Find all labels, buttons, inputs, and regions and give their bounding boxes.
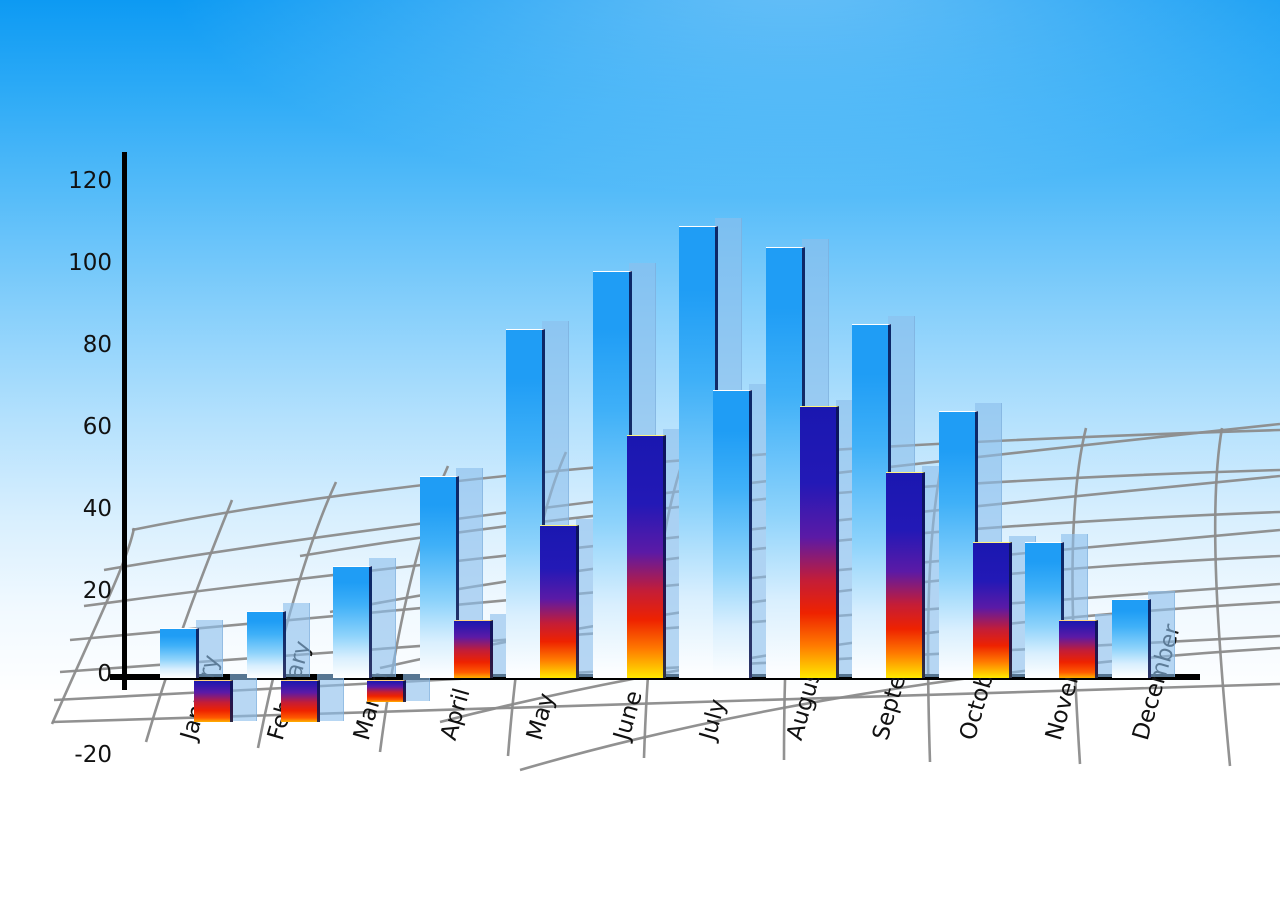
- bar-front-face: [194, 680, 233, 722]
- bar-august-series1[interactable]: [766, 247, 802, 678]
- bar-february-series2[interactable]: [281, 680, 317, 721]
- bar-front-face: [540, 525, 579, 678]
- bar-november-series1[interactable]: [1025, 542, 1061, 677]
- bar-january-series1[interactable]: [160, 628, 196, 677]
- bar-front-face: [247, 611, 286, 678]
- bar-depth-panel: [1148, 591, 1175, 677]
- bar-front-face: [800, 406, 839, 678]
- bar-front-face: [627, 435, 666, 678]
- bar-may-series2[interactable]: [540, 525, 576, 677]
- bar-july-series2[interactable]: [713, 390, 749, 677]
- bar-september-series2[interactable]: [886, 472, 922, 677]
- bar-april-series2[interactable]: [454, 620, 490, 677]
- x-axis-label-june: June: [609, 688, 648, 743]
- bar-front-face: [281, 680, 320, 722]
- plot-area: JanuaryFebruaryMarchAprilMayJuneJulyAugu…: [0, 0, 1280, 905]
- bar-november-series2[interactable]: [1059, 620, 1095, 677]
- bar-depth-panel: [369, 558, 396, 677]
- bar-depth-panel: [317, 674, 344, 721]
- bar-september-series1[interactable]: [852, 324, 888, 677]
- bar-october-series2[interactable]: [973, 542, 1009, 677]
- bar-front-face: [973, 542, 1012, 678]
- bar-front-face: [1059, 620, 1098, 678]
- bar-june-series1[interactable]: [593, 271, 629, 677]
- x-axis-label-april: April: [436, 685, 475, 743]
- bar-april-series1[interactable]: [420, 476, 456, 677]
- bar-july-series1[interactable]: [679, 226, 715, 677]
- bar-front-face: [1112, 599, 1151, 678]
- bar-january-series2[interactable]: [194, 680, 230, 721]
- bar-front-face: [454, 620, 493, 678]
- bar-august-series2[interactable]: [800, 406, 836, 677]
- bar-depth-panel: [283, 603, 310, 677]
- bar-june-series2[interactable]: [627, 435, 663, 677]
- bar-march-series2[interactable]: [367, 680, 403, 701]
- bar-front-face: [367, 680, 406, 702]
- bar-front-face: [713, 390, 752, 678]
- bar-front-face: [160, 628, 199, 678]
- x-axis-label-may: May: [522, 690, 560, 743]
- x-axis-label-july: July: [695, 696, 731, 743]
- bar-december-series1[interactable]: [1112, 599, 1148, 677]
- bar-february-series1[interactable]: [247, 611, 283, 677]
- bar-depth-panel: [230, 674, 257, 721]
- bar-may-series1[interactable]: [506, 329, 542, 678]
- bar-march-series1[interactable]: [333, 566, 369, 677]
- bar-depth-panel: [196, 620, 223, 677]
- bar-front-face: [333, 566, 372, 678]
- bar-front-face: [886, 472, 925, 678]
- bar-october-series1[interactable]: [939, 411, 975, 678]
- chart-canvas: 120 100 80 60 40 20 0 -20 JanuaryFebruar…: [0, 0, 1280, 905]
